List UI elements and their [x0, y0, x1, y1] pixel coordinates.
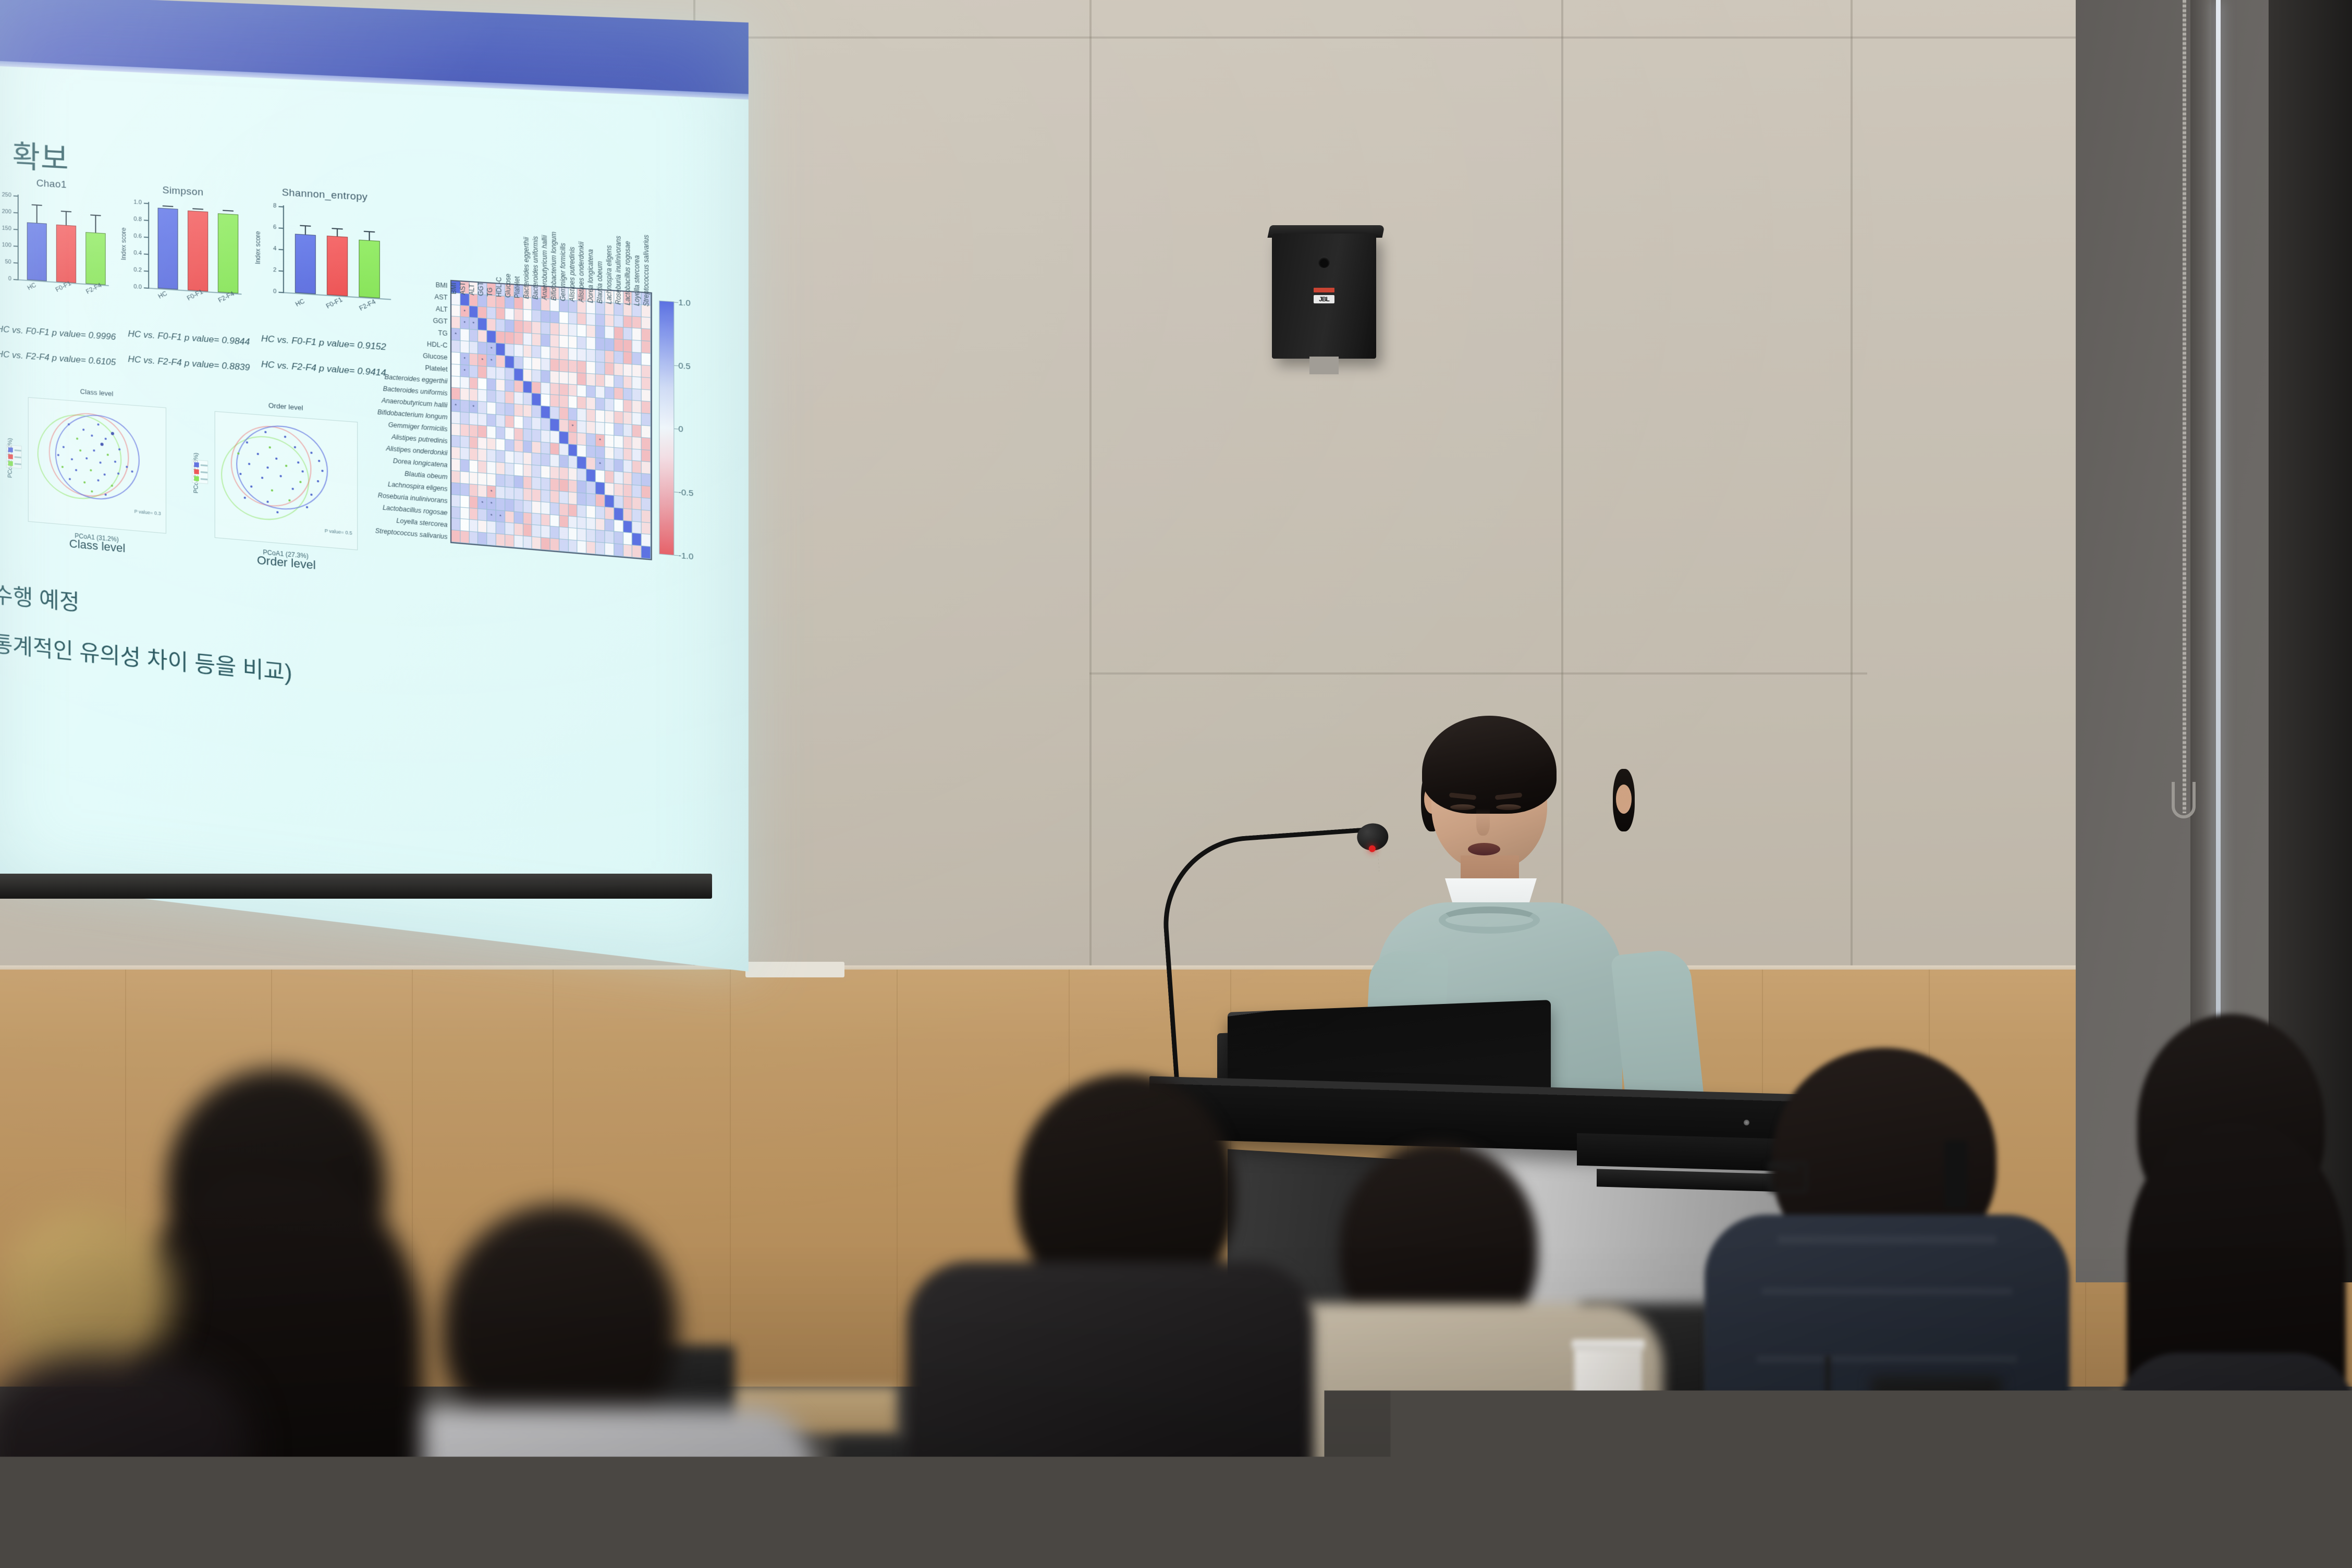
audience-member — [897, 1074, 1314, 1568]
heatmap-cell — [632, 377, 642, 389]
heatmap-cell — [596, 338, 605, 350]
heatmap-cell — [532, 525, 541, 537]
heatmap-cell — [514, 345, 523, 357]
y-tick: 2 — [273, 267, 276, 274]
pcoa-plot-class-level: Class level — [28, 397, 166, 534]
heatmap-cell — [642, 546, 651, 559]
heatmap-cell: * — [460, 305, 469, 318]
heatmap-cell — [596, 410, 605, 423]
heatmap-cell — [642, 329, 651, 341]
heatmap-cell — [642, 401, 651, 414]
heatmap-row-label: Alistipes onderdonkii — [386, 445, 447, 457]
heatmap-cell — [623, 424, 633, 437]
heatmap-cell — [496, 308, 505, 320]
heatmap-cell — [487, 378, 496, 391]
heatmap-cell — [614, 520, 623, 533]
heatmap-cell — [578, 301, 586, 313]
heatmap-cell — [451, 530, 460, 543]
bar-f0f1 — [188, 211, 208, 291]
heatmap-cell — [469, 413, 478, 425]
heatmap-cell — [469, 448, 478, 461]
heatmap-cell — [514, 321, 523, 333]
heatmap-cell — [469, 472, 478, 485]
y-tick: 100 — [2, 242, 11, 249]
heatmap-cell — [532, 322, 541, 335]
heatmap-cell — [469, 460, 478, 473]
heatmap-cell — [451, 388, 460, 400]
heatmap-cell — [451, 364, 460, 376]
heatmap-cell — [568, 444, 577, 457]
chart-chao1: Chao1 0 50 100 150 200 250 — [0, 176, 109, 309]
chart-title: Shannon_entropy — [259, 186, 391, 205]
heatmap-cell — [578, 505, 586, 517]
heatmap-column-label: Bacteroides eggerthii — [523, 237, 530, 299]
heatmap-cell — [642, 534, 651, 547]
heatmap-cell — [614, 339, 623, 352]
heatmap-cell — [586, 361, 596, 374]
y-axis-label: Index score — [120, 227, 127, 261]
heatmap-cell — [559, 516, 568, 528]
heatmap-row-label: Lactobacillus rogosae — [383, 504, 448, 516]
heatmap-cell — [460, 519, 469, 532]
heatmap-cell — [614, 387, 623, 400]
heatmap-cell — [514, 535, 523, 548]
heatmap-cell — [596, 398, 605, 411]
heatmap-cell — [496, 522, 505, 534]
heatmap-cell — [586, 434, 596, 446]
x-tick-label: F0-F1 — [325, 296, 344, 310]
heatmap-cell — [623, 316, 633, 328]
y-tick: 0.8 — [133, 216, 142, 223]
heatmap-cell — [596, 350, 605, 363]
heatmap-cell — [596, 494, 605, 507]
heatmap-cell — [568, 408, 577, 421]
heatmap-cell — [623, 472, 633, 485]
colorbar-tick: -1.0 — [678, 550, 693, 561]
heatmap-cell — [514, 500, 523, 512]
heatmap-cell — [487, 390, 496, 403]
heatmap-cell: * — [478, 354, 487, 366]
heatmap-column-label: HDL-C — [496, 277, 503, 297]
heatmap-cell — [568, 384, 577, 397]
bar-hc — [295, 234, 316, 295]
heatmap-cell — [523, 309, 532, 322]
heatmap-cell — [505, 344, 514, 357]
heatmap-cell — [496, 379, 505, 391]
heatmap-row-label: Bacteroides uniformis — [383, 385, 448, 396]
pcoa-header: Class level — [80, 387, 114, 398]
heatmap-cell — [451, 412, 460, 424]
heatmap-cell — [478, 318, 487, 331]
heatmap-cell — [568, 312, 577, 325]
heatmap-cell — [514, 393, 523, 405]
heatmap-cell — [523, 512, 532, 525]
jbl-logo: JBL — [1314, 295, 1334, 303]
heatmap-cell — [559, 420, 568, 432]
heatmap-cell — [578, 541, 586, 554]
y-tick: 0 — [8, 276, 11, 282]
heatmap-cell — [596, 506, 605, 519]
heatmap-column-label: Glucose — [505, 273, 512, 298]
heatmap-cell — [514, 369, 523, 381]
heatmap-cell — [586, 398, 596, 410]
heatmap-cell — [523, 321, 532, 334]
heatmap-cell — [623, 304, 633, 316]
heatmap-cell — [469, 520, 478, 532]
bar-f0f1 — [327, 236, 348, 296]
heatmap-cell — [559, 300, 568, 312]
heatmap-cell — [550, 431, 559, 443]
heatmap-cell — [460, 460, 469, 472]
heatmap-cell — [559, 540, 568, 552]
heatmap-cell — [451, 352, 460, 365]
heatmap-cell — [578, 409, 586, 421]
heatmap-cell — [487, 462, 496, 474]
heatmap-cell — [623, 509, 633, 522]
heatmap-row-label: AST — [434, 293, 447, 301]
pvalue-text: HC vs. F2-F4 p value= 0.9414 — [261, 359, 386, 379]
heatmap-cell — [478, 425, 487, 438]
heatmap-cell — [586, 349, 596, 362]
bar-f2f4 — [218, 213, 238, 293]
heatmap-row-label: Dorea longicatena — [393, 458, 448, 469]
heatmap-cell — [541, 311, 550, 323]
heatmap-cell — [532, 346, 541, 358]
heatmap-cell — [451, 471, 460, 483]
heatmap-cell — [605, 423, 614, 435]
heatmap-cell: * — [460, 353, 469, 365]
heatmap-column-label: Gemmiger formicilis — [560, 243, 567, 302]
heatmap-cell — [460, 436, 469, 448]
heatmap-cell — [623, 533, 633, 546]
heatmap-column-label: Bifidobacterium longum — [550, 231, 557, 301]
heatmap-cell — [478, 473, 487, 485]
coffee-cup[interactable] — [1574, 1345, 1642, 1418]
heatmap-cell — [451, 435, 460, 448]
heatmap-cell — [496, 450, 505, 463]
heatmap-column-label: Lachnospira eligens — [606, 245, 612, 304]
heatmap-cell — [642, 389, 651, 402]
wall-plate — [745, 962, 844, 977]
heatmap-cell — [596, 542, 605, 555]
heatmap-cell — [532, 537, 541, 549]
heatmap-cell — [568, 360, 577, 373]
heatmap-cell — [469, 437, 478, 449]
heatmap-cell — [469, 365, 478, 378]
heatmap-cell — [460, 483, 469, 496]
chart-title: Simpson — [125, 182, 241, 201]
wall-seam — [1851, 0, 1853, 980]
heatmap-cell — [578, 349, 586, 361]
heatmap-cell — [487, 426, 496, 438]
heatmap-cell — [623, 460, 633, 473]
heatmap-cell — [478, 342, 487, 354]
heatmap-cell — [514, 404, 523, 416]
heatmap-cell — [605, 315, 614, 327]
heatmap-cell — [505, 499, 514, 511]
heatmap-cell — [469, 341, 478, 354]
heatmap-cell — [623, 376, 633, 388]
heatmap-cell — [642, 522, 651, 535]
blind-bead-chain[interactable] — [2183, 0, 2186, 813]
heatmap-cell — [632, 461, 642, 473]
heatmap-column-label: ALT — [469, 284, 475, 296]
heatmap-cell — [550, 407, 559, 419]
heatmap-cell — [532, 358, 541, 370]
heatmap-cell — [623, 352, 633, 364]
heatmap-cell — [632, 485, 642, 498]
heatmap-cell — [523, 345, 532, 358]
heatmap-cell — [505, 391, 514, 404]
audience-member — [2116, 1014, 2352, 1568]
heatmap-cell — [623, 496, 633, 509]
heatmap-cell — [642, 305, 651, 317]
heatmap-cell — [460, 329, 469, 341]
heatmap-cell — [632, 340, 642, 353]
heatmap-row-label: Bacteroides eggerthii — [385, 374, 448, 385]
heatmap-cell: * — [460, 365, 469, 377]
heatmap-cell — [550, 526, 559, 539]
heatmap-cell — [532, 406, 541, 418]
heatmap-cell: * — [469, 318, 478, 330]
significance-star: * — [482, 357, 484, 362]
heatmap-cell — [532, 513, 541, 525]
heatmap-cell — [460, 293, 469, 306]
heatmap-cell — [605, 471, 614, 483]
heatmap-row-label: Blautia obeum — [405, 470, 447, 480]
heatmap-cell — [614, 472, 623, 484]
slide-title: 이터 확보 — [0, 128, 69, 178]
heatmap-cell — [550, 395, 559, 408]
heatmap-cell — [578, 493, 586, 505]
heatmap-cell — [586, 422, 596, 434]
heatmap-cell — [568, 540, 577, 553]
heatmap-cell — [550, 311, 559, 324]
heatmap-cell — [559, 360, 568, 372]
heatmap-cell — [642, 377, 651, 390]
heatmap-column-label: Blautia obeum — [596, 261, 603, 304]
heatmap-cell — [614, 484, 623, 497]
heatmap-cell — [596, 482, 605, 495]
heatmap-cell: * — [487, 509, 496, 522]
heatmap-cell — [623, 340, 633, 352]
heatmap-cell — [514, 464, 523, 476]
heatmap-cell — [568, 432, 577, 445]
pcoa-legend — [6, 445, 22, 469]
heatmap-cell — [559, 408, 568, 420]
slide-bullet: 석 수행 예정 — [0, 574, 80, 617]
heatmap-cell — [505, 368, 514, 381]
heatmap-row-label: Anaerobutyricum hallii — [382, 397, 448, 409]
heatmap-cell — [451, 293, 460, 305]
heatmap-cell — [505, 356, 514, 369]
heatmap-cell — [460, 412, 469, 425]
heatmap-cell — [559, 336, 568, 348]
heatmap-row-label: HDL-C — [427, 341, 447, 349]
heatmap-cell — [623, 545, 633, 558]
significance-star: * — [463, 309, 465, 314]
heatmap-cell — [632, 497, 642, 510]
heatmap-cell — [568, 492, 577, 505]
heatmap-column-label: Loyella stercorea — [634, 255, 641, 306]
heatmap-cell — [642, 317, 651, 329]
heatmap-cell — [614, 436, 623, 448]
heatmap-column-label: Bacteroides uniformis — [532, 236, 539, 300]
heatmap-cell — [541, 490, 550, 503]
heatmap-cell — [642, 474, 651, 487]
significance-star: * — [472, 321, 474, 326]
heatmap-cell: * — [451, 400, 460, 412]
heatmap-cell — [496, 367, 505, 379]
heatmap-cell — [586, 506, 596, 518]
heatmap-cell — [451, 447, 460, 460]
heatmap-cell — [541, 323, 550, 335]
bar-f2f4 — [359, 240, 379, 298]
significance-star: * — [491, 358, 493, 363]
heatmap-cell — [632, 328, 642, 341]
heatmap-row-label: GGT — [433, 317, 448, 325]
heatmap-cell — [478, 413, 487, 426]
heatmap-cell — [596, 362, 605, 375]
heatmap-cell — [578, 313, 586, 325]
heatmap-cell — [578, 421, 586, 433]
heatmap-cell: * — [496, 510, 505, 523]
heatmap-cell — [568, 528, 577, 541]
lecture-hall-photo: 이터 확보 Chao1 0 50 100 150 200 250 — [0, 0, 2352, 1568]
heatmap-cell — [541, 299, 550, 311]
heatmap-cell — [568, 468, 577, 481]
heatmap-cell — [451, 507, 460, 519]
heatmap-cell — [550, 503, 559, 515]
heatmap-cell — [496, 332, 505, 344]
heatmap-cell: * — [478, 497, 487, 509]
heatmap-cell — [514, 511, 523, 524]
iced-drink-cup[interactable] — [1793, 1418, 1877, 1568]
heatmap-cell — [541, 358, 550, 371]
heatmap-cell — [541, 502, 550, 514]
heatmap-cell — [532, 442, 541, 454]
heatmap-column-label: Streptococcus salivarius — [643, 235, 650, 307]
heatmap-cell — [642, 510, 651, 523]
heatmap-cell — [505, 535, 514, 547]
heatmap-cell — [632, 449, 642, 461]
chart-simpson: Simpson Index score 0.0 0.2 0.4 0.6 0.8 … — [125, 182, 241, 317]
heatmap-cell — [469, 377, 478, 390]
heatmap-cell — [550, 467, 559, 479]
heatmap-cell — [514, 333, 523, 345]
heatmap-cell — [541, 478, 550, 491]
pvalue-text: HC vs. F0-F1 p value= 0.9996 — [0, 324, 116, 342]
slide-bullet: 성, 통계적인 유의성 차이 등을 비교) — [0, 623, 292, 688]
wall-seam — [1089, 672, 1867, 675]
heatmap-cell — [586, 446, 596, 458]
audience-torso — [907, 1261, 1314, 1568]
heatmap-cell — [614, 327, 623, 340]
audience-member — [0, 1355, 250, 1568]
heatmap-cell — [505, 511, 514, 523]
heatmap-cell — [487, 438, 496, 450]
presenter-hair — [1422, 716, 1557, 814]
chart-title: Chao1 — [0, 176, 109, 193]
heatmap-cell — [451, 495, 460, 507]
heatmap-cell — [523, 452, 532, 465]
heatmap-cell — [514, 428, 523, 440]
heatmap-cell — [541, 406, 550, 419]
heatmap-cell — [532, 370, 541, 382]
heatmap-cell — [632, 352, 642, 365]
heatmap-cell — [460, 448, 469, 460]
heatmap-cell — [505, 487, 514, 499]
y-tick: 250 — [2, 192, 11, 199]
heatmap-cell — [605, 435, 614, 447]
heatmap-column-label: Alistipes onderdonkii — [578, 241, 585, 302]
heatmap-cell — [642, 353, 651, 365]
heatmap-cell — [559, 492, 568, 504]
heatmap-cell — [460, 376, 469, 389]
heatmap-cell — [586, 458, 596, 470]
heatmap-cell — [559, 456, 568, 468]
heatmap-cell — [478, 378, 487, 390]
heatmap-cell — [623, 328, 633, 340]
heatmap-cell — [478, 390, 487, 402]
heatmap-cell — [496, 427, 505, 439]
significance-star: * — [455, 403, 457, 408]
speaker-badge — [1314, 288, 1334, 292]
heatmap-cell — [514, 488, 523, 500]
heatmap-cell — [623, 400, 633, 413]
heatmap-cell — [532, 382, 541, 394]
heatmap-cell — [623, 412, 633, 425]
heatmap-cell — [541, 526, 550, 538]
heatmap-cell — [632, 316, 642, 329]
heatmap-cell — [496, 462, 505, 475]
heatmap-cell — [505, 475, 514, 487]
heatmap-cell — [596, 314, 605, 326]
heatmap-cell — [496, 534, 505, 546]
heatmap-cell — [487, 521, 496, 534]
heatmap-cell — [632, 389, 642, 401]
x-tick-label: HC — [294, 297, 306, 308]
heatmap-cell — [496, 391, 505, 403]
heatmap-row-label: Lachnospira eligens — [388, 481, 448, 493]
heatmap-cell — [550, 371, 559, 384]
heatmap-cell — [496, 474, 505, 487]
heatmap-cell — [559, 504, 568, 516]
heatmap-cell — [523, 464, 532, 477]
heatmap-cell — [596, 530, 605, 543]
heatmap-cell — [559, 432, 568, 444]
y-tick: 0.2 — [133, 266, 142, 273]
blind-bead-chain-loop[interactable] — [2172, 782, 2196, 818]
heatmap-cell — [605, 459, 614, 471]
heatmap-cell — [614, 508, 623, 521]
heatmap-cell — [505, 320, 514, 333]
heatmap-cell — [596, 302, 605, 314]
slide-header-band — [0, 0, 749, 94]
heatmap-cell — [487, 366, 496, 379]
heatmap-cell — [523, 405, 532, 418]
heatmap-cell — [605, 375, 614, 387]
bar-hc — [27, 222, 47, 281]
heatmap-cell — [550, 359, 559, 372]
heatmap-cell — [559, 312, 568, 324]
heatmap-cell — [605, 399, 614, 411]
laptop[interactable] — [1871, 1376, 2002, 1533]
heatmap-cell — [496, 415, 505, 427]
heatmap-cell — [605, 531, 614, 544]
chart-shannon-entropy: Shannon_entropy Index score 0 2 4 6 8 — [259, 186, 391, 327]
colorbar-tick: 1.0 — [678, 298, 690, 308]
